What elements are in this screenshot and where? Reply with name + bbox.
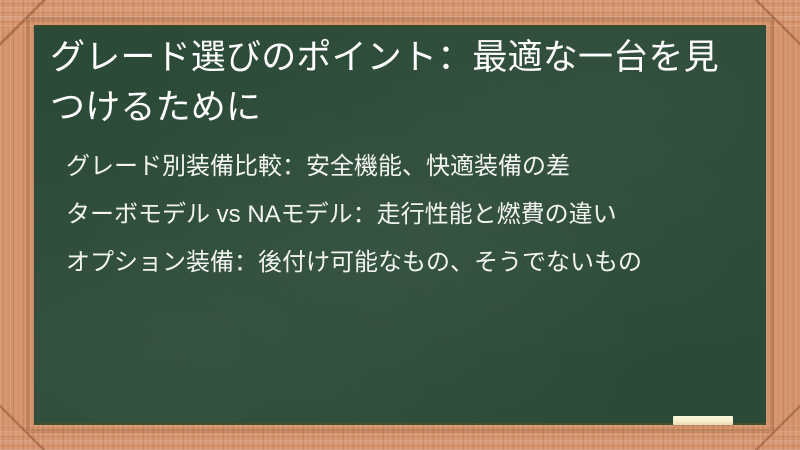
list-item: ターボモデル vs NAモデル：走行性能と燃費の違い [42,196,748,233]
chalkboard-surface: グレード選びのポイント：最適な一台を見つけるために グレード別装備比較：安全機能… [34,25,766,425]
chalk-stick [673,416,733,425]
slide-content: グレード選びのポイント：最適な一台を見つけるために グレード別装備比較：安全機能… [34,27,766,292]
bullet-list: グレード別装備比較：安全機能、快適装備の差 ターボモデル vs NAモデル：走行… [42,148,748,281]
page-title: グレード選びのポイント：最適な一台を見つけるために [42,33,748,133]
wood-grain-top-rail-texture [0,0,800,26]
wood-grain-bottom-rail-texture [0,425,800,450]
list-item: グレード別装備比較：安全機能、快適装備の差 [42,148,748,185]
list-item: オプション装備：後付け可能なもの、そうでないもの [42,244,748,281]
blackboard-frame: グレード選びのポイント：最適な一台を見つけるために グレード別装備比較：安全機能… [0,0,800,450]
